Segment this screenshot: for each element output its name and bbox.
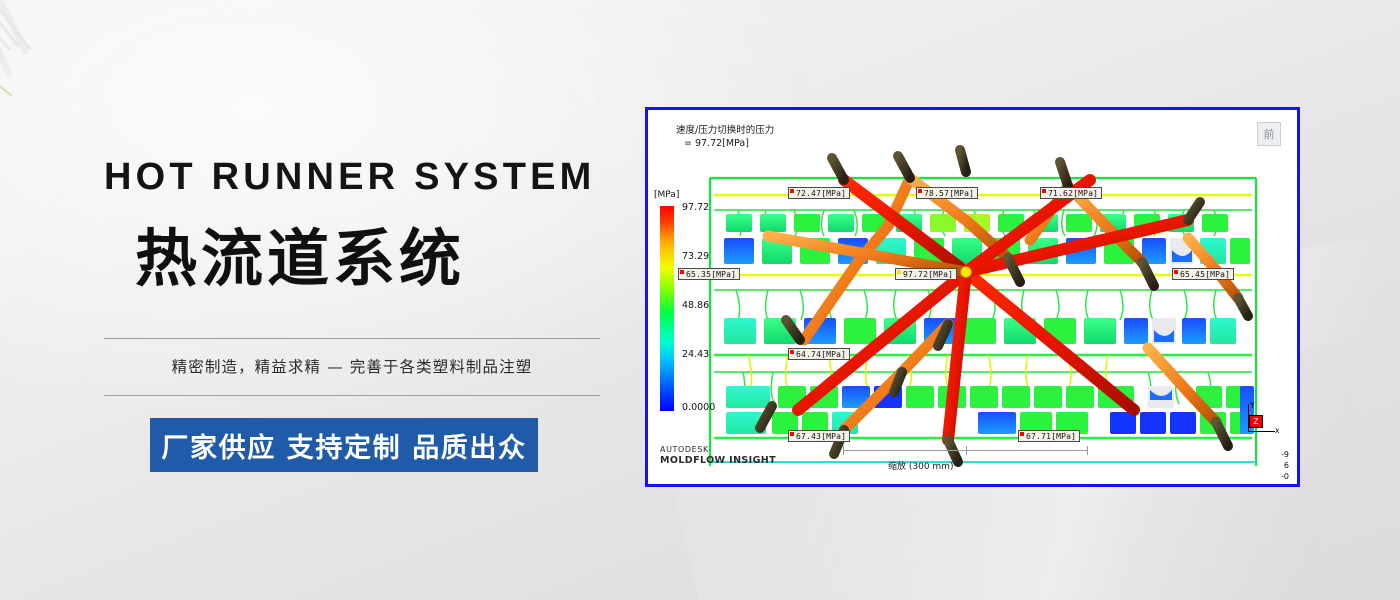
pressure-label-max: 97.72[MPa] — [895, 268, 957, 280]
pressure-label: 67.71[MPa] — [1018, 430, 1080, 442]
banner-text-panel: HOT RUNNER SYSTEM 热流道系统 精密制造，精益求精 — 完善于各… — [0, 0, 640, 600]
banner-subtitle: 精密制造，精益求精 — 完善于各类塑料制品注塑 — [104, 352, 600, 382]
axis-label-x: x — [1275, 426, 1279, 435]
divider-bottom — [104, 395, 600, 396]
cta-button[interactable]: 厂家供应 支持定制 品质出众 — [150, 418, 538, 472]
pressure-contour-plot — [648, 110, 1297, 484]
pressure-label: 65.45[MPa] — [1172, 268, 1234, 280]
axis-label-z: Z — [1249, 415, 1263, 428]
pressure-label: 78.57[MPa] — [916, 187, 978, 199]
legend-tick-3: 24.43 — [682, 349, 709, 360]
result-title-line1: 速度/压力切换时的压力 — [676, 124, 774, 137]
divider-top — [104, 338, 600, 339]
moldflow-simulation-panel: 速度/压力切换时的压力 = 97.72[MPa] [MPa] 97.72 73.… — [645, 107, 1300, 487]
pressure-label: 72.47[MPa] — [788, 187, 850, 199]
legend-tick-2: 48.86 — [682, 300, 709, 311]
simulation-result-title: 速度/压力切换时的压力 = 97.72[MPa] — [676, 124, 774, 150]
axis-number-1: 6 — [1281, 460, 1289, 471]
legend-unit-label: [MPa] — [654, 190, 679, 200]
axis-value-readout: -9 6 -0 — [1281, 449, 1289, 482]
pressure-colorbar — [660, 206, 674, 411]
headline-chinese: 热流道系统 — [0, 222, 640, 295]
axis-label-y: Y — [1250, 401, 1255, 410]
legend-tick-0: 97.72 — [682, 202, 709, 213]
brand-autodesk: AUTODESK — [660, 444, 776, 455]
axis-number-0: -9 — [1281, 449, 1289, 460]
pressure-label: 71.62[MPa] — [1040, 187, 1102, 199]
scale-bar — [843, 444, 1088, 458]
legend-tick-1: 73.29 — [682, 251, 709, 262]
scale-bar-label: 缩放 (300 mm) — [888, 459, 953, 472]
pressure-label: 67.43[MPa] — [788, 430, 850, 442]
simulation-canvas[interactable]: 速度/压力切换时的压力 = 97.72[MPa] [MPa] 97.72 73.… — [648, 110, 1297, 484]
legend-tick-4: 0.0000 — [682, 402, 715, 413]
pressure-label: 64.74[MPa] — [788, 348, 850, 360]
axis-number-2: -0 — [1281, 471, 1289, 482]
headline-english: HOT RUNNER SYSTEM — [104, 158, 604, 196]
pressure-label: 65.35[MPa] — [678, 268, 740, 280]
brand-moldflow-insight: MOLDFLOW INSIGHT — [660, 455, 776, 466]
result-title-line2: = 97.72[MPa] — [676, 137, 774, 150]
axis-orientation-indicator: Y x Z — [1237, 402, 1283, 456]
autodesk-brand: AUTODESK MOLDFLOW INSIGHT — [660, 444, 776, 466]
view-orientation-button[interactable]: 前 — [1257, 122, 1281, 146]
